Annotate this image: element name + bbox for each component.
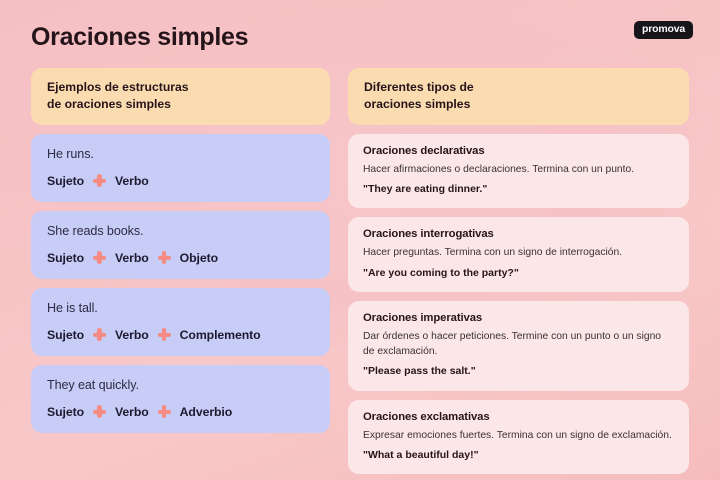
- left-column-header: Ejemplos de estructuras de oraciones sim…: [31, 68, 330, 125]
- right-header-line-2: oraciones simples: [364, 96, 673, 113]
- structure-card: He is tall. Sujeto Verbo Complemento: [31, 288, 330, 356]
- plus-icon: [93, 328, 106, 341]
- left-column: Ejemplos de estructuras de oraciones sim…: [31, 68, 330, 474]
- formula-part: Verbo: [115, 328, 149, 342]
- formula-part: Sujeto: [47, 405, 84, 419]
- sentence-type-example: "They are eating dinner.": [363, 182, 674, 196]
- formula-part: Sujeto: [47, 251, 84, 265]
- sentence-type-description: Expresar emociones fuertes. Termina con …: [363, 429, 674, 444]
- left-header-line-2: de oraciones simples: [47, 96, 314, 113]
- page-title: Oraciones simples: [31, 23, 248, 52]
- structure-formula: Sujeto Verbo Objeto: [47, 251, 314, 265]
- plus-icon: [93, 174, 106, 187]
- infographic-poster: Oraciones simples promova Ejemplos de es…: [0, 0, 720, 480]
- formula-part: Adverbio: [180, 405, 233, 419]
- plus-icon: [158, 328, 171, 341]
- sentence-type-card: Oraciones exclamativas Expresar emocione…: [348, 400, 689, 475]
- sentence-type-description: Hacer preguntas. Termina con un signo de…: [363, 246, 674, 261]
- sentence-type-example: "What a beautiful day!": [363, 448, 674, 462]
- formula-part: Verbo: [115, 405, 149, 419]
- structure-card: He runs. Sujeto Verbo: [31, 134, 330, 202]
- structure-formula: Sujeto Verbo Complemento: [47, 328, 314, 342]
- left-header-line-1: Ejemplos de estructuras: [47, 79, 314, 96]
- right-column-header: Diferentes tipos de oraciones simples: [348, 68, 689, 125]
- formula-part: Complemento: [180, 328, 261, 342]
- sentence-type-example: "Please pass the salt.": [363, 364, 674, 378]
- formula-part: Sujeto: [47, 174, 84, 188]
- structure-card: They eat quickly. Sujeto Verbo Adverbio: [31, 365, 330, 433]
- sentence-type-title: Oraciones imperativas: [363, 312, 674, 324]
- plus-icon: [158, 251, 171, 264]
- sentence-type-card: Oraciones declarativas Hacer afirmacione…: [348, 134, 689, 209]
- right-header-line-1: Diferentes tipos de: [364, 79, 673, 96]
- structure-example: They eat quickly.: [47, 378, 314, 392]
- structure-example: He is tall.: [47, 301, 314, 315]
- sentence-type-title: Oraciones exclamativas: [363, 411, 674, 423]
- formula-part: Verbo: [115, 174, 149, 188]
- plus-icon: [158, 405, 171, 418]
- sentence-type-description: Dar órdenes o hacer peticiones. Termine …: [363, 330, 674, 359]
- sentence-type-description: Hacer afirmaciones o declaraciones. Term…: [363, 163, 674, 178]
- plus-icon: [93, 251, 106, 264]
- promova-logo: promova: [634, 21, 693, 39]
- content-columns: Ejemplos de estructuras de oraciones sim…: [31, 68, 689, 474]
- sentence-type-example: "Are you coming to the party?": [363, 266, 674, 280]
- sentence-type-title: Oraciones declarativas: [363, 145, 674, 157]
- sentence-type-card: Oraciones imperativas Dar órdenes o hace…: [348, 301, 689, 390]
- right-column: Diferentes tipos de oraciones simples Or…: [348, 68, 689, 474]
- header-bar: Oraciones simples promova: [0, 0, 720, 68]
- structure-formula: Sujeto Verbo Adverbio: [47, 405, 314, 419]
- sentence-type-title: Oraciones interrogativas: [363, 228, 674, 240]
- plus-icon: [93, 405, 106, 418]
- structure-card: She reads books. Sujeto Verbo Objeto: [31, 211, 330, 279]
- formula-part: Verbo: [115, 251, 149, 265]
- structure-example: He runs.: [47, 147, 314, 161]
- formula-part: Sujeto: [47, 328, 84, 342]
- formula-part: Objeto: [180, 251, 218, 265]
- structure-example: She reads books.: [47, 224, 314, 238]
- structure-formula: Sujeto Verbo: [47, 174, 314, 188]
- sentence-type-card: Oraciones interrogativas Hacer preguntas…: [348, 217, 689, 292]
